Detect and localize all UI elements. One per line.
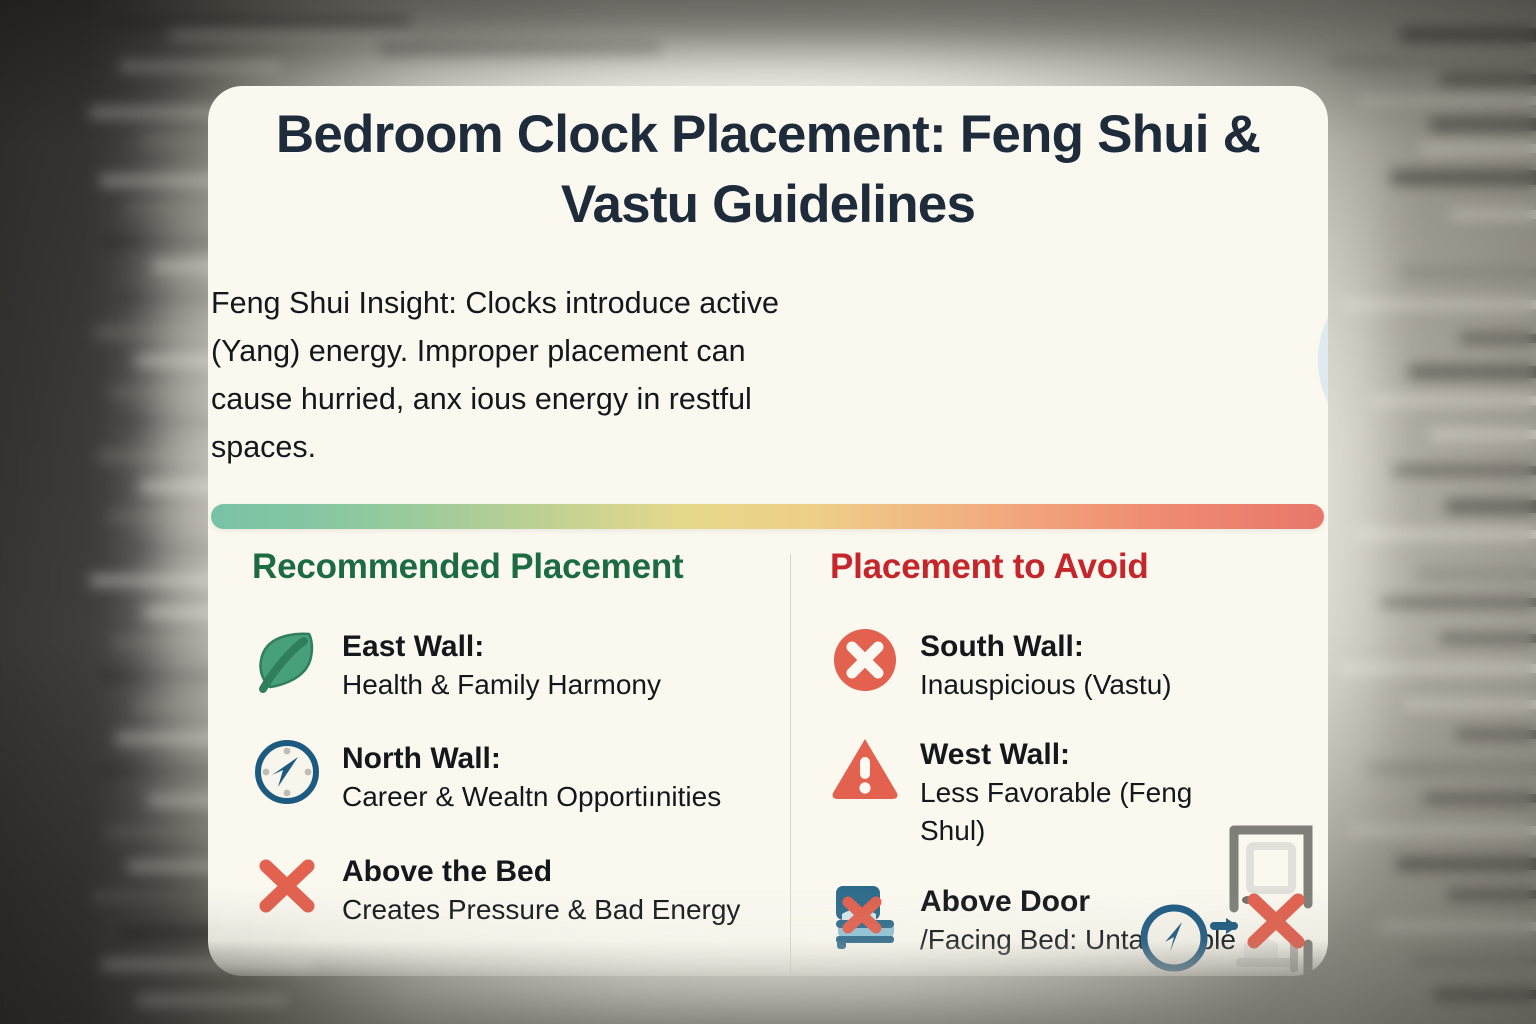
page-title: Bedroom Clock Placement: Feng Shui & Vas… <box>248 100 1288 241</box>
bed-x-icon <box>830 880 900 950</box>
list-item-subtitle: Less Favorable (Feng Shul) <box>920 774 1220 850</box>
list-item-subtitle: Inauspicious (Vastu) <box>920 666 1172 704</box>
list-item-title: East Wall: <box>342 627 661 666</box>
list-item-subtitle: Career & Wealtn Opportiınities <box>342 778 721 816</box>
list-item: East Wall: Health & Family Harmony <box>252 625 782 704</box>
list-item-title: Above the Bed <box>342 852 740 891</box>
list-item: Above the Bed Creates Pressure & Bad Ene… <box>252 850 782 929</box>
avoid-list: South Wall: Inauspicious (Vastu) West Wa… <box>830 625 1328 959</box>
list-item-subtitle: /Facing Bed: Untavorable <box>920 921 1236 959</box>
list-item-text: Above the Bed Creates Pressure & Bad Ene… <box>342 850 740 929</box>
circle-x-icon <box>830 625 900 695</box>
leaf-icon <box>252 625 322 695</box>
recommended-column: Recommended Placement East Wall: Health … <box>252 548 782 963</box>
screenshot-stage: Bedroom Clock Placement: Feng Shui & Vas… <box>0 0 1536 1024</box>
list-item-text: South Wall: Inauspicious (Vastu) <box>920 625 1172 704</box>
list-item-title: West Wall: <box>920 735 1220 774</box>
recommended-list: East Wall: Health & Family Harmony <box>252 625 782 929</box>
list-item-title: South Wall: <box>920 627 1172 666</box>
list-item-text: North Wall: Career & Wealtn Opportiıniti… <box>342 737 721 816</box>
list-item-subtitle: Creates Pressure & Bad Energy <box>342 891 740 929</box>
list-item-subtitle: Health & Family Harmony <box>342 666 661 704</box>
recommended-heading: Recommended Placement <box>252 548 782 587</box>
avoid-heading: Placement to Avoid <box>830 548 1328 587</box>
list-item: South Wall: Inauspicious (Vastu) <box>830 625 1328 704</box>
compass-icon <box>252 737 322 807</box>
list-item: Above Door /Facing Bed: Untavorable <box>830 880 1328 959</box>
list-item-text: East Wall: Health & Family Harmony <box>342 625 661 704</box>
list-item-text: Above Door /Facing Bed: Untavorable <box>920 880 1236 959</box>
warning-triangle-icon <box>830 733 900 803</box>
list-item-title: Above Door <box>920 882 1236 921</box>
red-x-icon <box>252 850 322 920</box>
list-item: West Wall: Less Favorable (Feng Shul) <box>830 733 1328 850</box>
intro-paragraph: Feng Shui Insight: Clocks introduce acti… <box>211 280 811 472</box>
list-item-title: North Wall: <box>342 739 721 778</box>
list-item-text: West Wall: Less Favorable (Feng Shul) <box>920 733 1220 850</box>
clock-icon <box>1318 262 1328 458</box>
infographic-card: Bedroom Clock Placement: Feng Shui & Vas… <box>208 86 1328 976</box>
list-item: North Wall: Career & Wealtn Opportiıniti… <box>252 737 782 816</box>
avoid-column: Placement to Avoid South Wall: <box>830 548 1328 976</box>
section-gradient-bar <box>211 504 1324 529</box>
column-divider <box>790 554 791 976</box>
